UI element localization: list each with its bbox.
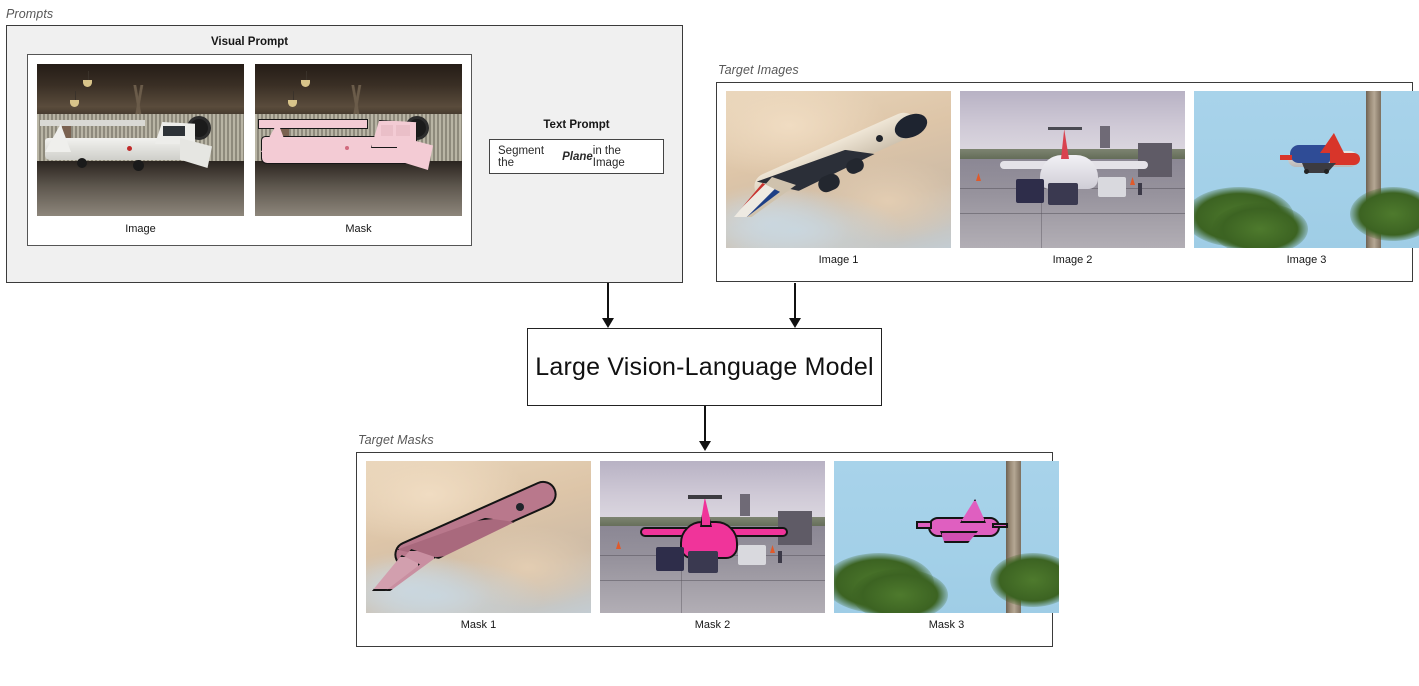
target-image-3-label: Image 3	[1194, 254, 1419, 266]
visual-prompt-box: Image Mask	[27, 54, 472, 246]
text-prompt-suffix: in the Image	[593, 145, 655, 169]
figure-canvas: Prompts Visual Prompt	[0, 0, 1419, 686]
target-masks-section-caption: Target Masks	[358, 433, 434, 447]
target-image-2-thumbnail	[960, 91, 1185, 248]
text-prompt-title: Text Prompt	[489, 119, 664, 131]
target-image-1-label: Image 1	[726, 254, 951, 266]
visual-prompt-mask-label: Mask	[255, 223, 462, 235]
target-mask-3-label: Mask 3	[834, 619, 1059, 631]
arrow-model-to-target-masks	[695, 406, 715, 451]
visual-prompt-image-thumbnail	[37, 64, 244, 216]
text-prompt-highlight: Plane	[562, 151, 593, 163]
text-prompt-value: Segment the Plane in the Image	[489, 139, 664, 174]
model-box: Large Vision-Language Model	[527, 328, 882, 406]
target-images-section-caption: Target Images	[718, 63, 799, 77]
target-mask-2-thumbnail	[600, 461, 825, 613]
prompts-section-caption: Prompts	[6, 7, 53, 21]
target-mask-2-label: Mask 2	[600, 619, 825, 631]
target-mask-1-label: Mask 1	[366, 619, 591, 631]
target-image-3-thumbnail	[1194, 91, 1419, 248]
prompts-panel: Visual Prompt	[6, 25, 683, 283]
arrow-target-images-to-model	[785, 283, 805, 328]
visual-prompt-title: Visual Prompt	[27, 36, 472, 48]
visual-prompt-image-label: Image	[37, 223, 244, 235]
model-label: Large Vision-Language Model	[535, 353, 874, 382]
target-masks-panel: Mask 1 Mask 2	[356, 452, 1053, 647]
target-image-2-label: Image 2	[960, 254, 1185, 266]
target-images-panel: Image 1 Image 2	[716, 82, 1413, 282]
arrow-prompts-to-model	[598, 283, 618, 328]
target-mask-3-thumbnail	[834, 461, 1059, 613]
target-mask-1-thumbnail	[366, 461, 591, 613]
target-image-1-thumbnail	[726, 91, 951, 248]
text-prompt-prefix: Segment the	[498, 145, 562, 169]
visual-prompt-mask-thumbnail	[255, 64, 462, 216]
